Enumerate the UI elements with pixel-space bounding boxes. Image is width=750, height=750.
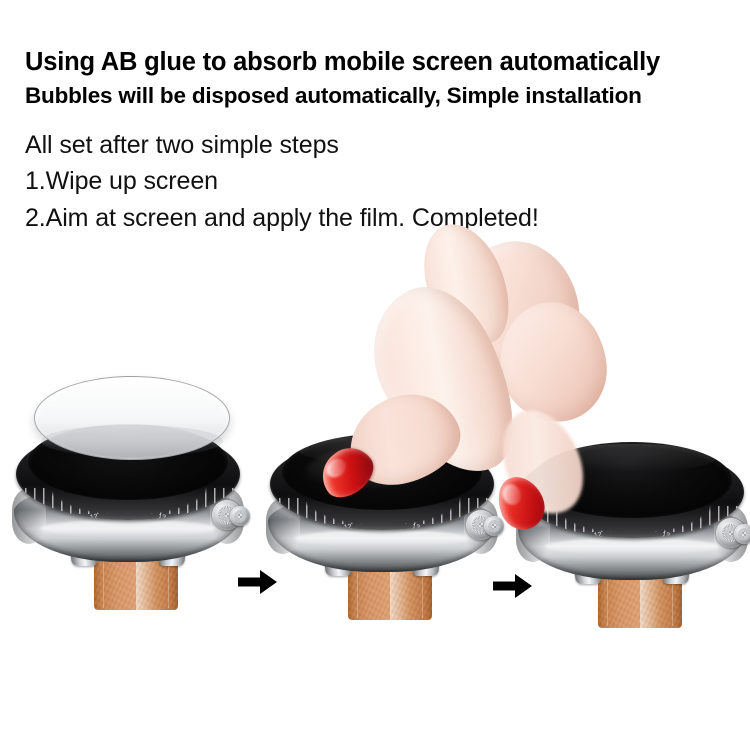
pusher-ribs (488, 520, 500, 532)
arrow-step2-to-step3-icon (493, 572, 533, 605)
bezel-numeral: 13 (158, 513, 167, 520)
bezel-numerals: 10 11 12 13 14 15 (520, 518, 744, 536)
pusher-ribs (234, 510, 246, 522)
headline: Using AB glue to absorb mobile screen au… (25, 46, 735, 79)
step-item-1: 1.Wipe up screen (25, 163, 735, 200)
steps-intro: All set after two simple steps (25, 127, 735, 164)
illustration-stage: 10 11 12 13 14 15 (0, 390, 750, 690)
bezel-numeral: 13 (662, 531, 671, 538)
watch-display (282, 434, 482, 510)
hand-knuckle-upper (438, 230, 591, 386)
bezel-numeral: 12 (593, 531, 602, 538)
smartwatch-illustration: 10 11 12 13 14 15 (512, 428, 750, 658)
glue-spread-pattern (306, 446, 458, 493)
watch-pusher (734, 524, 750, 544)
step-1-watch-with-film-above: 10 11 12 13 14 15 (8, 410, 258, 660)
pusher-ribs (738, 528, 750, 540)
bezel-numeral: 12 (89, 513, 98, 520)
watch-pusher (230, 506, 250, 526)
bezel-numeral: 12 (343, 523, 352, 530)
watch-display (532, 442, 732, 518)
bezel-numeral: 10 (535, 525, 545, 535)
bezel-numerals: 10 11 12 13 14 15 (16, 500, 240, 518)
smartwatch-illustration: 10 11 12 13 14 15 (8, 410, 248, 640)
text-block: Using AB glue to absorb mobile screen au… (25, 46, 735, 236)
bezel-numeral: 10 (31, 507, 41, 517)
screen-protector-film (34, 376, 230, 460)
smartwatch-illustration: 10 11 12 13 14 15 (262, 420, 502, 650)
step-2-watch-with-finger: 10 11 12 13 14 15 (262, 420, 512, 670)
display-gloss (548, 444, 716, 473)
subheadline: Bubbles will be disposed automatically, … (25, 81, 735, 111)
product-infographic-page: Using AB glue to absorb mobile screen au… (0, 0, 750, 750)
case-highlight (41, 520, 214, 537)
bezel-numeral: 10 (285, 517, 295, 527)
arrow-step1-to-step2-icon (238, 568, 278, 601)
case-highlight (545, 538, 718, 555)
film-edge-highlight (41, 425, 223, 458)
step-item-2: 2.Aim at screen and apply the film. Comp… (25, 200, 735, 237)
step-3-watch-completed: 10 11 12 13 14 15 (512, 428, 750, 678)
bezel-numeral: 13 (412, 523, 421, 530)
watch-pusher (484, 516, 504, 536)
steps-list: All set after two simple steps 1.Wipe up… (25, 127, 735, 237)
bezel-numerals: 10 11 12 13 14 15 (270, 510, 494, 528)
case-highlight (295, 530, 468, 547)
